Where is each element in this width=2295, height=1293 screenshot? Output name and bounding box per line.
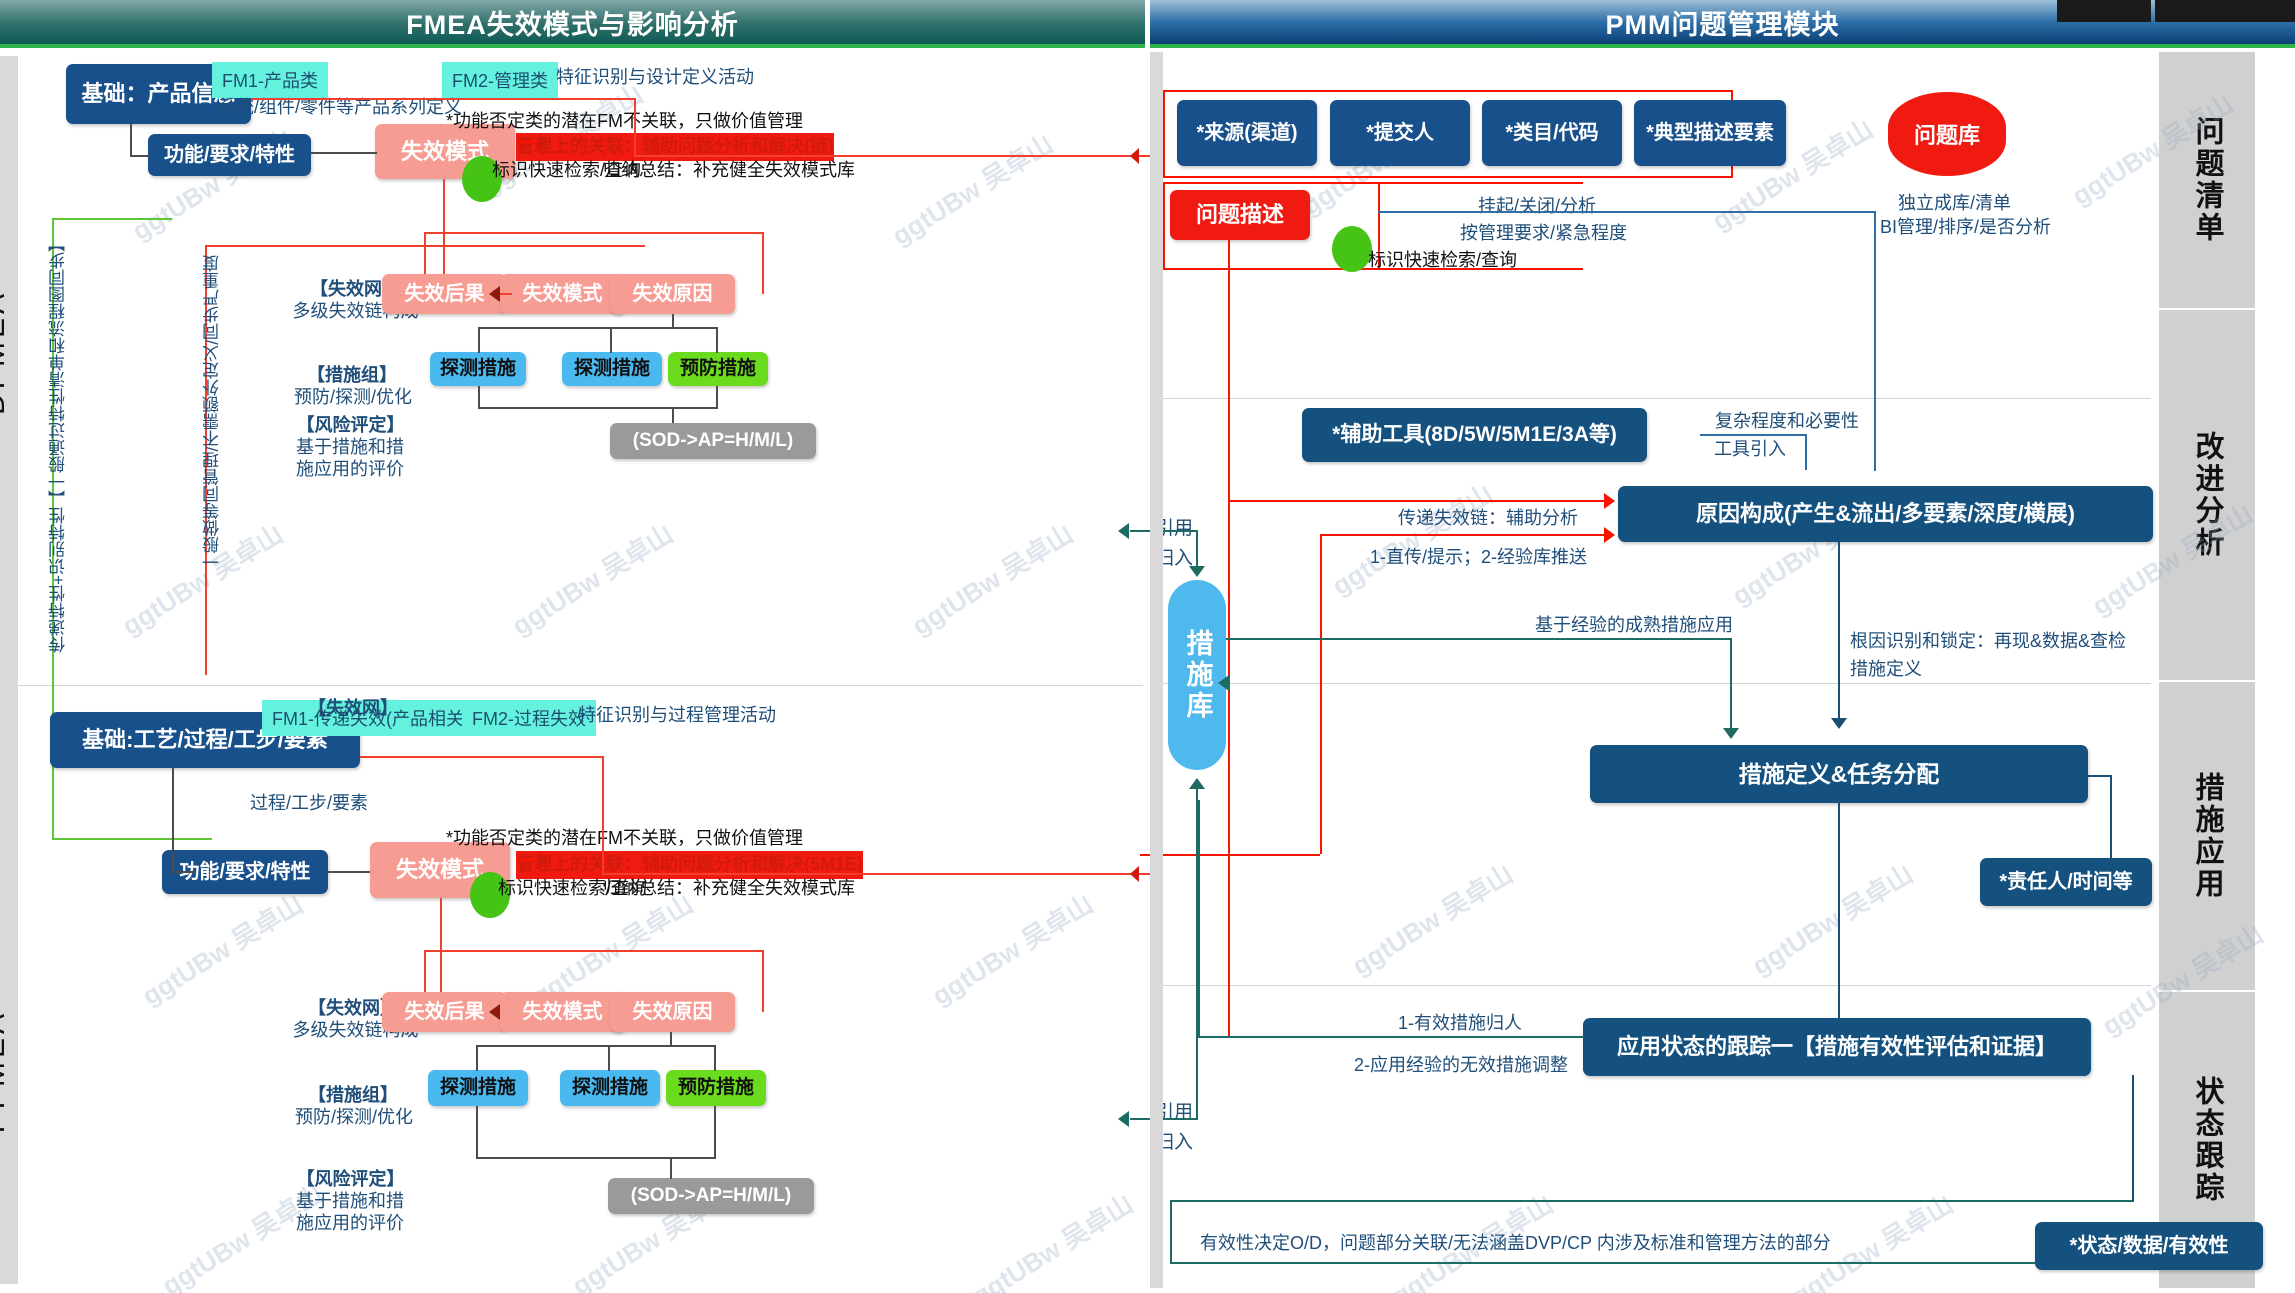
center-divider [1150,52,1163,1288]
pmm-source-box[interactable]: *来源(渠道) [1177,100,1317,166]
conn-pfmea-base-red-v [602,756,604,874]
pmm-band-divider-2 [1163,683,2151,684]
conn-pfmea-red-across [602,873,1158,875]
conn-pfmea-sod-v1 [476,1106,478,1158]
conn-pfmea-base-to-func [172,871,196,873]
conn-pmm-cause-arrow2-line [1320,534,1606,536]
pmm-app-status-label: 应用状态的跟踪一【措施有效性评估和证据】 [1617,1034,2057,1059]
cyl-out-bottom-arrow-icon [1118,1111,1129,1127]
dfmea-fm2-tag: FM2-管理类 [442,62,558,98]
dfmea-mode-box[interactable]: 失效模式 [500,274,625,314]
conn-dfmea-sod-v3 [672,407,674,423]
dfmea-grp-sub: 预防/探测/优化 [283,384,423,412]
pmm-submitter-label: *提交人 [1366,122,1434,145]
pfmea-summary-arrow-icon [1130,866,1139,882]
header-pmm-title: PMM问题管理模块 [1606,3,1840,42]
conn-dfmea-link-arrow-line [516,141,540,143]
conn-pfmea-meas-v1 [476,1045,478,1071]
dfmea-effect-label: 失效后果 [405,283,485,306]
pmm-note-complexity: 复杂程度和必要性 [1715,408,1859,436]
pfmea-prevent-box[interactable]: 预防措施 [666,1070,766,1106]
dfmea-cause-label: 失效原因 [633,283,713,306]
conn-dfmea-meas-v2 [610,327,612,353]
pfmea-prevent-label: 预防措施 [678,1077,754,1099]
pmm-note-toolintro: 工具引入 [1714,436,1786,464]
conn-dfmea-red-across [634,155,1154,157]
rail-item-issue-list[interactable]: 问题清单 [2159,52,2255,308]
pmm-note-dot: 标识快速检索/查询 [1368,247,1517,275]
conn-pmm-root-v [1838,542,1840,722]
pmm-issuedesc-outline-left [1163,182,1165,270]
conn-pfmea-net-v2 [762,950,764,1012]
conn-dfmea-sod-v2 [716,386,718,408]
pfmea-base-note: 过程/工步/要素 [250,790,368,818]
pfmea-note-value: *功能否定类的潜在FM不关联，只做价值管理 [446,825,803,853]
conn-pfmea-net-h [424,950,764,952]
pmm-cause-compose-label: 原因构成(产生&流出/多要素/深度/横展) [1696,501,2075,526]
pmm-topbox-outline-bottom [1163,176,1733,178]
cyl-in-top-arrow-icon [1189,566,1205,577]
conn-dfmea-base-red-h [251,98,636,100]
pmm-cause-arrow1-icon [1604,493,1615,509]
pmm-note-eff1: 1-有效措施归人 [1398,1010,1522,1038]
dfmea-detect2-box[interactable]: 探测措施 [562,352,662,386]
pmm-source-label: *来源(渠道) [1196,122,1297,145]
pfmea-effect-label: 失效后果 [405,1001,485,1024]
dfmea-risk-l2: 施应用的评价 [280,456,420,484]
header-fmea-title: FMEA失效模式与影响分析 [406,3,739,42]
pfmea-risk-l2: 施应用的评价 [280,1210,420,1238]
conn-pmm-statusdata-v [2132,1075,2134,1201]
pmm-note-lib2: BI管理/排序/是否分析 [1880,214,2051,242]
window-chrome-block-left [2057,0,2151,22]
pfmea-mode-box[interactable]: 失效模式 [500,992,625,1032]
pfmea-fm2-tag: FM2-过程失效 [462,700,596,736]
dfmea-sod-label: (SOD->AP=H/M/L) [633,430,793,452]
pmm-cause-compose-box[interactable]: 原因构成(产生&流出/多要素/深度/横展) [1618,486,2153,542]
rail-item-improve-analysis[interactable]: 改进分析 [2159,310,2255,680]
pmm-note-status: 挂起/关闭/分析 [1478,193,1596,221]
conn-pmm-bottom-h [1170,1200,2134,1202]
dfmea-function-box[interactable]: 功能/要求/特性 [148,134,311,176]
pmm-category-box[interactable]: *类目/代码 [1482,100,1622,166]
pmm-issuedesc-outline-top [1163,182,1583,184]
pmm-submitter-box[interactable]: *提交人 [1330,100,1470,166]
conn-dfmea-base-down [130,124,132,156]
conn-pmm-mature-v [1730,638,1732,730]
dfmea-vertical-green-note: 传递特性+识别特性【一般通过特性清单和流程图同步】 [46,235,72,653]
pmm-action-def-label: 措施定义&任务分配 [1739,761,1940,787]
conn-pmm-owner-h [2088,775,2112,777]
conn-cyl-right-out [1226,638,1236,640]
pfmea-note-summary: 归纳总结：补充健全失效模式库 [603,875,855,903]
pfmea-link-arrow-icon [538,852,547,868]
pfmea-mode-label: 失效模式 [523,1001,603,1024]
cyl-out-top-arrow-icon [1118,523,1129,539]
conn-pfmea-sod-v3 [670,1157,672,1179]
conn-pfmea-sod-v2 [714,1106,716,1158]
pfmea-detect2-box[interactable]: 探测措施 [560,1070,660,1106]
dfmea-scope-green-top [52,218,172,220]
pmm-cause-arrow2-icon [1604,527,1615,543]
conn-pfmea-cause-down [670,1032,672,1046]
conn-pmm-eff-v [1198,800,1200,1036]
pmm-topbox-outline-top [1163,90,1733,92]
conn-pmm-cause-arrow1-line [1228,500,1606,502]
pmm-app-status-box[interactable]: 应用状态的跟踪一【措施有效性评估和证据】 [1583,1018,2091,1076]
pfmea-cause-box[interactable]: 失效原因 [610,992,735,1032]
pmm-note-mature: 基于经验的成熟措施应用 [1535,612,1733,640]
conn-pmm-bottom-v-left [1170,1200,1172,1262]
dfmea-note-value: *功能否定类的潜在FM不关联，只做价值管理 [446,108,803,136]
conn-dfmea-cause-down [672,314,674,328]
dfmea-cause-box[interactable]: 失效原因 [610,274,735,314]
conn-pmm-tool-v [1805,434,1807,470]
pmm-band-divider-3 [1163,985,2151,986]
pmm-tools-label: *辅助工具(8D/5W/5M1E/3A等) [1332,423,1617,447]
conn-pmm-status-h [1378,211,1876,213]
conn-dfmea-sod-h [478,407,718,409]
conn-pmm-bottom-h2 [1170,1262,2035,1264]
conn-dfmea-sod-v1 [478,386,480,408]
conn-dfmea-base-red-v [634,98,636,156]
pmm-note-chain: 传递失效链：辅助分析 [1398,505,1578,533]
measure-library-label: 措施库 [1181,629,1212,722]
dfmea-mode-label: 失效模式 [523,283,603,306]
conn-dfmea-base-to-func [130,155,150,157]
pmm-action-def-box[interactable]: 措施定义&任务分配 [1590,745,2088,803]
pfmea-sod-box[interactable]: (SOD->AP=H/M/L) [608,1178,814,1214]
dfmea-prevent-box[interactable]: 预防措施 [668,352,768,386]
pmm-issue-db-label: 问题库 [1914,118,1980,150]
dfmea-scope-green-bottom [52,838,212,840]
dfmea-sod-box[interactable]: (SOD->AP=H/M/L) [610,423,816,459]
pmm-root-arrow-icon [1831,718,1847,729]
fmea-band-divider [18,685,1143,686]
dfmea-detect2-label: 探测措施 [574,358,650,380]
conn-pmm-eff-h [1198,1036,1584,1038]
pmm-owner-label: *责任人/时间等 [1999,871,2132,894]
conn-dfmea-net-h [424,232,764,234]
conn-pfmea-sod-h [476,1157,716,1159]
conn-pmm-mature-h [1192,638,1732,640]
conn-dfmea-mode-effect [500,293,512,295]
conn-pfmea-base-down [172,768,174,871]
dfmea-detect1-box[interactable]: 探测措施 [430,352,526,386]
window-chrome-block-right [2155,0,2295,22]
pfmea-effect-arrow-icon [489,1004,500,1020]
conn-cyl-in-bottom-h [1130,1118,1198,1120]
conn-pmm-owner-v [2110,775,2112,859]
conn-pfmea-meas-v2 [608,1045,610,1071]
pfmea-failuremode-label: 失效模式 [396,857,484,882]
pmm-status-data-label: *状态/数据/有效性 [2070,1235,2229,1258]
cyl-in-right-arrow-icon [1218,675,1229,691]
pfmea-function-label: 功能/要求/特性 [179,861,310,884]
pmm-note-priority: 按管理要求/紧急程度 [1460,220,1627,248]
conn-pmm-cause-toleft [1140,854,1320,856]
pmm-green-dot-icon [1332,226,1372,272]
conn-dfmea-meas-v3 [716,327,718,353]
conn-dfmea-net-v2 [762,232,764,294]
pfmea-detect1-label: 探测措施 [440,1077,516,1099]
pmm-typical-label: *典型描述要素 [1646,122,1774,145]
pmm-category-label: *类目/代码 [1505,122,1598,145]
pfmea-net-title: 【失效网】 [287,695,419,723]
conn-pfmea-base-red-h [360,756,604,758]
pmm-tools-box[interactable]: *辅助工具(8D/5W/5M1E/3A等) [1302,408,1647,462]
dfmea-vertical-red-note: 一般做等同管理/不需额外定义/同步严重度 [200,255,226,570]
conn-pmm-cause-v-down [1320,534,1322,854]
conn-dfmea-meas-v1 [478,327,480,353]
conn-pfmea-link-arrow-line [516,859,540,861]
pmm-topbox-outline-left [1163,90,1165,176]
conn-dfmea-func-to-fm [311,152,377,154]
dfmea-detect1-label: 探测措施 [440,358,516,380]
dfmea-prevent-label: 预防措施 [680,358,756,380]
pmm-note-root2: 措施定义 [1850,656,1922,684]
pfmea-fm2-note: 特征识别与过程管理活动 [578,702,776,730]
pmm-note-root1: 根因识别和锁定：再现&数据&查检 [1850,628,2126,656]
dfmea-effect-arrow-icon [489,286,500,302]
conn-pmm-status-v [1874,211,1876,471]
header-fmea: FMEA失效模式与影响分析 [0,0,1145,48]
pmm-band-divider-1 [1163,398,2151,399]
conn-pmm-appstatus-v [1838,803,1840,1018]
conn-dfmea-meas-h [478,327,718,329]
conn-cyl-in-top-h [1130,530,1198,532]
pmm-owner-box[interactable]: *责任人/时间等 [1980,858,2152,906]
pmm-issue-db-oval[interactable]: 问题库 [1888,92,2006,176]
pmm-note-push: 1-直传/提示；2-经验库推送 [1370,544,1587,572]
dfmea-fm2-note: 特征识别与设计定义活动 [556,64,754,92]
dfmea-function-label: 功能/要求/特性 [164,144,295,167]
dfmea-note-summary: 归纳总结：补充健全失效模式库 [603,157,855,185]
pmm-status-data-box[interactable]: *状态/数据/有效性 [2035,1222,2263,1270]
rail-item-action-apply[interactable]: 措施应用 [2159,682,2255,990]
pmm-typical-box[interactable]: *典型描述要素 [1634,100,1786,166]
conn-pmm-tool-h [1700,434,1806,436]
pfmea-grp-sub: 预防/探测/优化 [283,1104,425,1132]
pfmea-detect2-label: 探测措施 [572,1077,648,1099]
dfmea-fm1-tag: FM1-产品类 [212,62,328,98]
pmm-note-eff2: 2-应用经验的无效措施调整 [1354,1052,1568,1080]
conn-pfmea-meas-h [476,1045,716,1047]
pmm-issue-desc-label: 问题描述 [1196,202,1284,227]
pmm-mature-arrow-icon [1723,728,1739,739]
dfmea-summary-arrow-icon [1130,148,1139,164]
conn-pfmea-meas-v3 [714,1045,716,1071]
pmm-note-bottom: 有效性决定O/D，问题部分关联/无法涵盖DVP/CP 内涉及标准和管理方法的部分 [1200,1230,1831,1258]
conn-cyl-in-bottom-v [1196,788,1198,1118]
conn-pfmea-func-to-fm [328,871,370,873]
pfmea-detect1-box[interactable]: 探测措施 [428,1070,528,1106]
dfmea-link-arrow-icon [538,134,547,150]
pfmea-sod-label: (SOD->AP=H/M/L) [631,1185,791,1207]
pfmea-cause-label: 失效原因 [633,1001,713,1024]
pmm-issue-desc-box[interactable]: 问题描述 [1170,190,1310,240]
